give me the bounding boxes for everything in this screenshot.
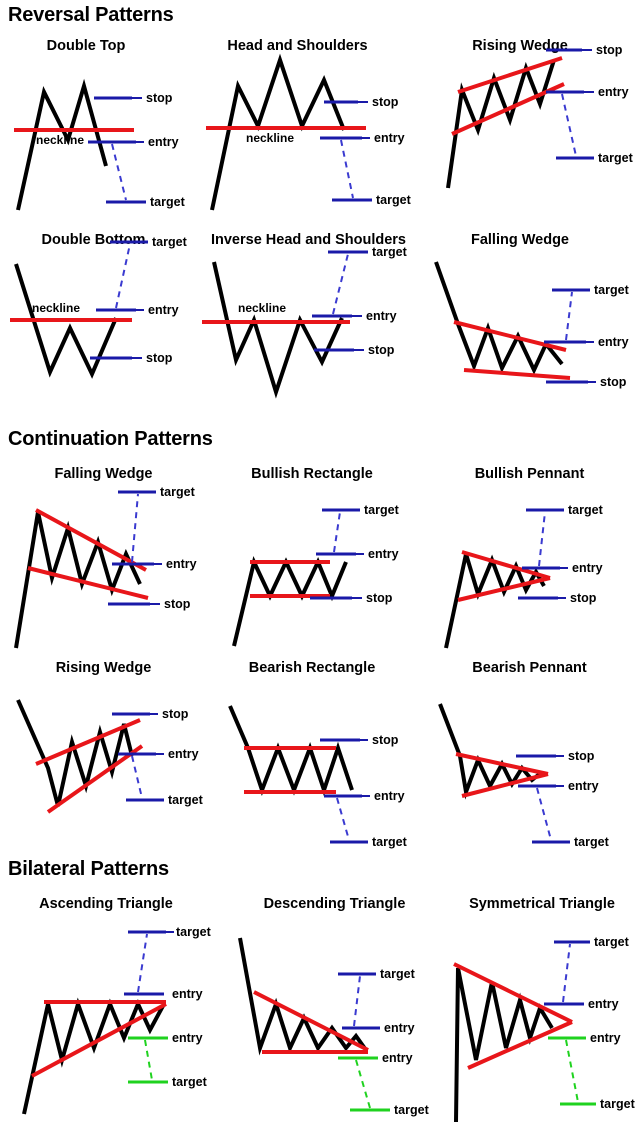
bearish-measured-move-connector xyxy=(145,1040,152,1080)
entry-label: entry xyxy=(374,131,405,145)
bullish-entry-label: entry xyxy=(588,997,619,1011)
section-heading-bilateral: Bilateral Patterns xyxy=(8,858,169,881)
target-label: target xyxy=(372,835,408,849)
bearish-target-label: target xyxy=(600,1097,636,1111)
measured-move-connector xyxy=(337,798,349,840)
entry-label: entry xyxy=(366,309,397,323)
measured-move-connector xyxy=(539,512,545,566)
entry-label: entry xyxy=(598,335,629,349)
bearish-entry-label: entry xyxy=(172,1031,203,1045)
section-heading-reversal: Reversal Patterns xyxy=(8,4,174,27)
target-label: target xyxy=(168,793,204,807)
upper-trendline xyxy=(454,322,566,350)
target-label: target xyxy=(160,485,196,499)
bullish-target-label: target xyxy=(176,925,212,939)
pattern-inverse-head-and-shoulders: Inverse Head and Shoulders neckline targ… xyxy=(196,232,426,407)
measured-move-connector xyxy=(566,292,572,340)
measured-move-connector xyxy=(116,244,130,308)
bullish-target-label: target xyxy=(380,967,416,981)
pattern-bullish-rectangle: Bullish Rectangle target entry stop xyxy=(212,466,430,651)
price-line xyxy=(234,562,346,646)
pattern-falling-wedge-reversal: Falling Wedge target entry stop xyxy=(430,232,640,407)
pattern-ascending-triangle: Ascending Triangle target entry entry ta… xyxy=(6,896,226,1130)
bearish-entry-label: entry xyxy=(382,1051,413,1065)
target-label: target xyxy=(594,283,630,297)
bullish-measured-move-connector xyxy=(563,944,570,1002)
section-heading-continuation: Continuation Patterns xyxy=(8,428,213,451)
stop-label: stop xyxy=(368,343,395,357)
pattern-double-bottom: Double Bottom neckline target entry stop xyxy=(6,232,206,407)
bullish-entry-label: entry xyxy=(384,1021,415,1035)
pattern-bearish-rectangle: Bearish Rectangle stop entry target xyxy=(212,660,430,850)
entry-label: entry xyxy=(568,779,599,793)
target-label: target xyxy=(150,195,186,209)
stop-label: stop xyxy=(146,351,173,365)
stop-label: stop xyxy=(596,43,623,57)
upper-trendline xyxy=(462,552,550,578)
pattern-descending-triangle: Descending Triangle target entry entry t… xyxy=(232,896,448,1130)
stop-label: stop xyxy=(164,597,191,611)
pattern-symmetrical-triangle: Symmetrical Triangle target entry entry … xyxy=(444,896,640,1130)
pattern-rising-wedge-continuation: Rising Wedge stop entry target xyxy=(6,660,216,840)
bullish-entry-label: entry xyxy=(172,987,203,1001)
chart-patterns-sheet: Reversal Patterns Double Top neckline st… xyxy=(0,0,640,1130)
entry-label: entry xyxy=(148,135,179,149)
target-label: target xyxy=(568,503,604,517)
stop-label: stop xyxy=(568,749,595,763)
entry-label: entry xyxy=(374,789,405,803)
neckline-label: neckline xyxy=(36,133,84,147)
bearish-measured-move-connector xyxy=(566,1040,578,1102)
pattern-double-top: Double Top neckline stop entry target xyxy=(6,38,206,218)
bearish-target-label: target xyxy=(172,1075,208,1089)
bearish-entry-label: entry xyxy=(590,1031,621,1045)
measured-move-connector xyxy=(334,512,340,552)
bullish-measured-move-connector xyxy=(138,934,147,992)
lower-trendline xyxy=(464,370,570,378)
entry-label: entry xyxy=(598,85,629,99)
target-label: target xyxy=(598,151,634,165)
measured-move-connector xyxy=(537,788,551,840)
entry-label: entry xyxy=(168,747,199,761)
stop-label: stop xyxy=(366,591,393,605)
price-line xyxy=(456,968,552,1122)
measured-move-connector xyxy=(132,756,142,798)
neckline-label: neckline xyxy=(32,301,80,315)
measured-move-connector xyxy=(341,140,353,198)
stop-label: stop xyxy=(372,733,399,747)
pattern-bearish-pennant: Bearish Pennant stop entry target xyxy=(432,660,640,850)
bearish-target-label: target xyxy=(394,1103,430,1117)
price-line xyxy=(214,262,342,392)
pattern-rising-wedge-reversal: Rising Wedge stop entry target xyxy=(430,38,640,218)
stop-label: stop xyxy=(600,375,627,389)
pattern-bullish-pennant: Bullish Pennant target entry stop xyxy=(432,466,640,651)
upper-trendline xyxy=(454,964,572,1022)
stop-label: stop xyxy=(146,91,173,105)
measured-move-connector xyxy=(132,494,138,562)
entry-label: entry xyxy=(166,557,197,571)
target-label: target xyxy=(376,193,412,207)
target-label: target xyxy=(364,503,400,517)
target-label: target xyxy=(574,835,610,849)
bullish-target-label: target xyxy=(594,935,630,949)
price-line xyxy=(18,700,132,806)
price-line xyxy=(24,1004,164,1114)
bullish-measured-move-connector xyxy=(354,976,360,1026)
measured-move-connector xyxy=(112,144,126,200)
entry-label: entry xyxy=(572,561,603,575)
stop-label: stop xyxy=(162,707,189,721)
bearish-measured-move-connector xyxy=(356,1060,370,1108)
price-line xyxy=(18,86,106,210)
stop-label: stop xyxy=(570,591,597,605)
target-label: target xyxy=(152,235,188,249)
measured-move-connector xyxy=(562,94,576,156)
entry-label: entry xyxy=(148,303,179,317)
stop-label: stop xyxy=(372,95,399,109)
entry-label: entry xyxy=(368,547,399,561)
price-line xyxy=(436,262,562,370)
target-label: target xyxy=(372,245,408,259)
neckline-label: neckline xyxy=(238,301,286,315)
pattern-falling-wedge-continuation: Falling Wedge target entry stop xyxy=(6,466,216,651)
pattern-head-and-shoulders: Head and Shoulders neckline stop entry t… xyxy=(200,38,420,218)
measured-move-connector xyxy=(333,254,348,314)
neckline-label: neckline xyxy=(246,131,294,145)
